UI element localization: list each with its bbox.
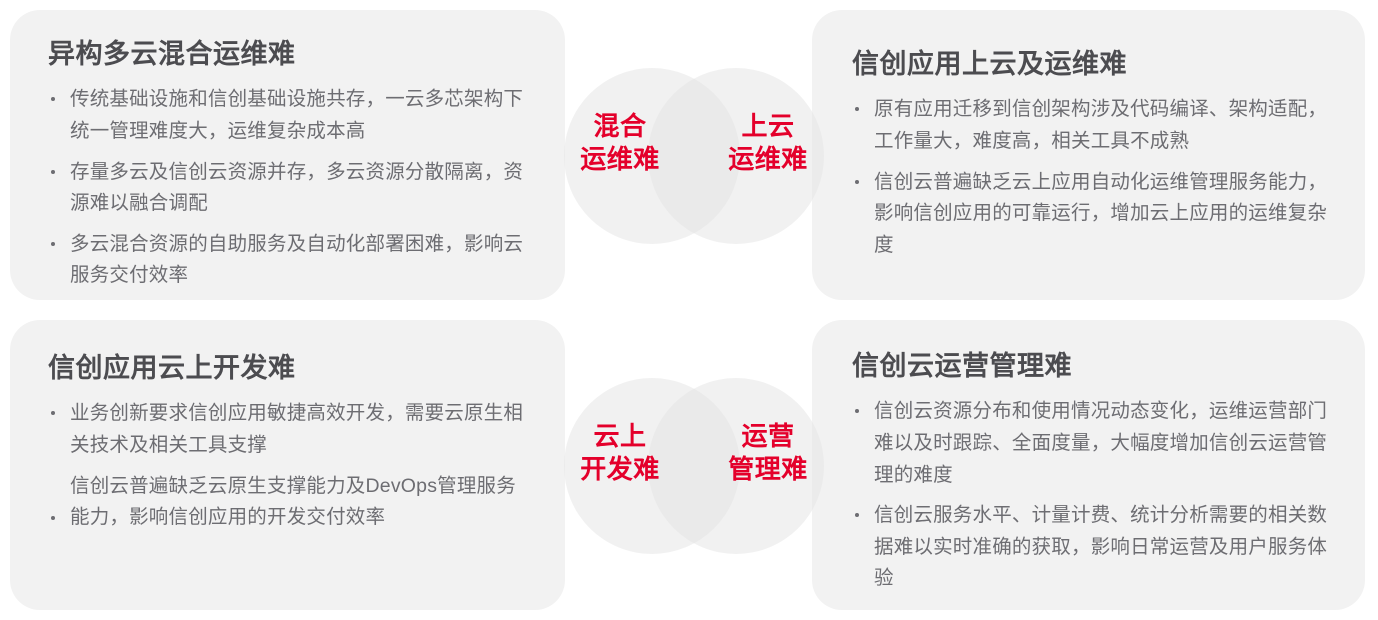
bullet-dot-icon (855, 180, 859, 184)
list-item-text: 存量多云及信创云资源并存，多云资源分散隔离，资源难以融合调配 (70, 161, 523, 215)
venn-label-line1: 混合 (560, 110, 680, 143)
bullet-dot-icon (855, 409, 859, 413)
venn-diagram-bottom: 云上 开发难 运营 管理难 (564, 378, 824, 558)
bullet-dot-icon (855, 513, 859, 517)
list-item-text: 多云混合资源的自助服务及自动化部署困难，影响云服务交付效率 (70, 233, 523, 287)
bullet-list: 传统基础设施和信创基础设施共存，一云多芯架构下统一管理难度大，运维复杂成本高 存… (48, 84, 531, 291)
venn-label-cloud-development: 云上 开发难 (560, 420, 680, 487)
venn-label-cloud-migration-ops: 上云 运维难 (708, 110, 828, 177)
card-content: 信创应用云上开发难 业务创新要求信创应用敏捷高效开发，需要云原生相关技术及相关工… (10, 320, 565, 534)
list-item: 存量多云及信创云资源并存，多云资源分散隔离，资源难以融合调配 (48, 157, 531, 220)
card-title: 异构多云混合运维难 (48, 38, 531, 70)
card-heterogeneous-multicloud-ops: 异构多云混合运维难 传统基础设施和信创基础设施共存，一云多芯架构下统一管理难度大… (10, 10, 565, 300)
venn-label-line2: 管理难 (708, 453, 828, 486)
infographic-canvas: 异构多云混合运维难 传统基础设施和信创基础设施共存，一云多芯架构下统一管理难度大… (0, 0, 1378, 620)
venn-diagram-top: 混合 运维难 上云 运维难 (564, 68, 824, 248)
bullet-list: 信创云资源分布和使用情况动态变化，运维运营部门难以及时跟踪、全面度量，大幅度增加… (852, 396, 1329, 594)
card-xinchuang-app-cloud-migration-ops: 信创应用上云及运维难 原有应用迁移到信创架构涉及代码编译、架构适配，工作量大，难… (812, 10, 1365, 300)
list-item-text: 业务创新要求信创应用敏捷高效开发，需要云原生相关技术及相关工具支撑 (70, 402, 523, 456)
list-item: 多云混合资源的自助服务及自动化部署困难，影响云服务交付效率 (48, 229, 531, 292)
card-content: 信创应用上云及运维难 原有应用迁移到信创架构涉及代码编译、架构适配，工作量大，难… (812, 10, 1365, 261)
venn-label-line1: 云上 (560, 420, 680, 453)
card-xinchuang-cloud-operations-management: 信创云运营管理难 信创云资源分布和使用情况动态变化，运维运营部门难以及时跟踪、全… (812, 320, 1365, 610)
card-content: 异构多云混合运维难 传统基础设施和信创基础设施共存，一云多芯架构下统一管理难度大… (10, 10, 565, 292)
bullet-dot-icon (855, 107, 859, 111)
list-item: 信创云资源分布和使用情况动态变化，运维运营部门难以及时跟踪、全面度量，大幅度增加… (852, 396, 1329, 491)
bullet-dot-icon (51, 516, 55, 520)
list-item-text: 信创云普遍缺乏云上应用自动化运维管理服务能力，影响信创应用的可靠运行，增加云上应… (874, 171, 1327, 256)
venn-label-line2: 开发难 (560, 453, 680, 486)
venn-label-operations-management: 运营 管理难 (708, 420, 828, 487)
venn-label-hybrid-ops: 混合 运维难 (560, 110, 680, 177)
card-title: 信创应用云上开发难 (48, 352, 531, 384)
bullet-dot-icon (51, 97, 55, 101)
bullet-dot-icon (51, 242, 55, 246)
venn-label-line1: 上云 (708, 110, 828, 143)
list-item: 信创云服务水平、计量计费、统计分析需要的相关数据难以实时准确的获取，影响日常运营… (852, 500, 1329, 595)
list-item: 传统基础设施和信创基础设施共存，一云多芯架构下统一管理难度大，运维复杂成本高 (48, 84, 531, 147)
list-item-text: 信创云服务水平、计量计费、统计分析需要的相关数据难以实时准确的获取，影响日常运营… (874, 504, 1327, 589)
venn-label-line1: 运营 (708, 420, 828, 453)
venn-label-line2: 运维难 (560, 143, 680, 176)
list-item: 信创云普遍缺乏云原生支撑能力及DevOps管理服务能力，影响信创应用的开发交付效… (48, 471, 531, 534)
list-item-text: 原有应用迁移到信创架构涉及代码编译、架构适配，工作量大，难度高，相关工具不成熟 (874, 98, 1327, 152)
card-title: 信创云运营管理难 (852, 350, 1329, 382)
bullet-dot-icon (51, 170, 55, 174)
list-item: 信创云普遍缺乏云上应用自动化运维管理服务能力，影响信创应用的可靠运行，增加云上应… (852, 167, 1329, 262)
list-item-text: 信创云普遍缺乏云原生支撑能力及DevOps管理服务能力，影响信创应用的开发交付效… (70, 475, 516, 529)
bullet-list: 业务创新要求信创应用敏捷高效开发，需要云原生相关技术及相关工具支撑 信创云普遍缺… (48, 398, 531, 533)
bullet-dot-icon (51, 411, 55, 415)
card-content: 信创云运营管理难 信创云资源分布和使用情况动态变化，运维运营部门难以及时跟踪、全… (812, 320, 1365, 595)
list-item-text: 传统基础设施和信创基础设施共存，一云多芯架构下统一管理难度大，运维复杂成本高 (70, 88, 523, 142)
list-item-text: 信创云资源分布和使用情况动态变化，运维运营部门难以及时跟踪、全面度量，大幅度增加… (874, 400, 1327, 485)
card-xinchuang-app-cloud-development: 信创应用云上开发难 业务创新要求信创应用敏捷高效开发，需要云原生相关技术及相关工… (10, 320, 565, 610)
venn-label-line2: 运维难 (708, 143, 828, 176)
card-title: 信创应用上云及运维难 (852, 48, 1329, 80)
list-item: 原有应用迁移到信创架构涉及代码编译、架构适配，工作量大，难度高，相关工具不成熟 (852, 94, 1329, 157)
list-item: 业务创新要求信创应用敏捷高效开发，需要云原生相关技术及相关工具支撑 (48, 398, 531, 461)
bullet-list: 原有应用迁移到信创架构涉及代码编译、架构适配，工作量大，难度高，相关工具不成熟 … (852, 94, 1329, 261)
